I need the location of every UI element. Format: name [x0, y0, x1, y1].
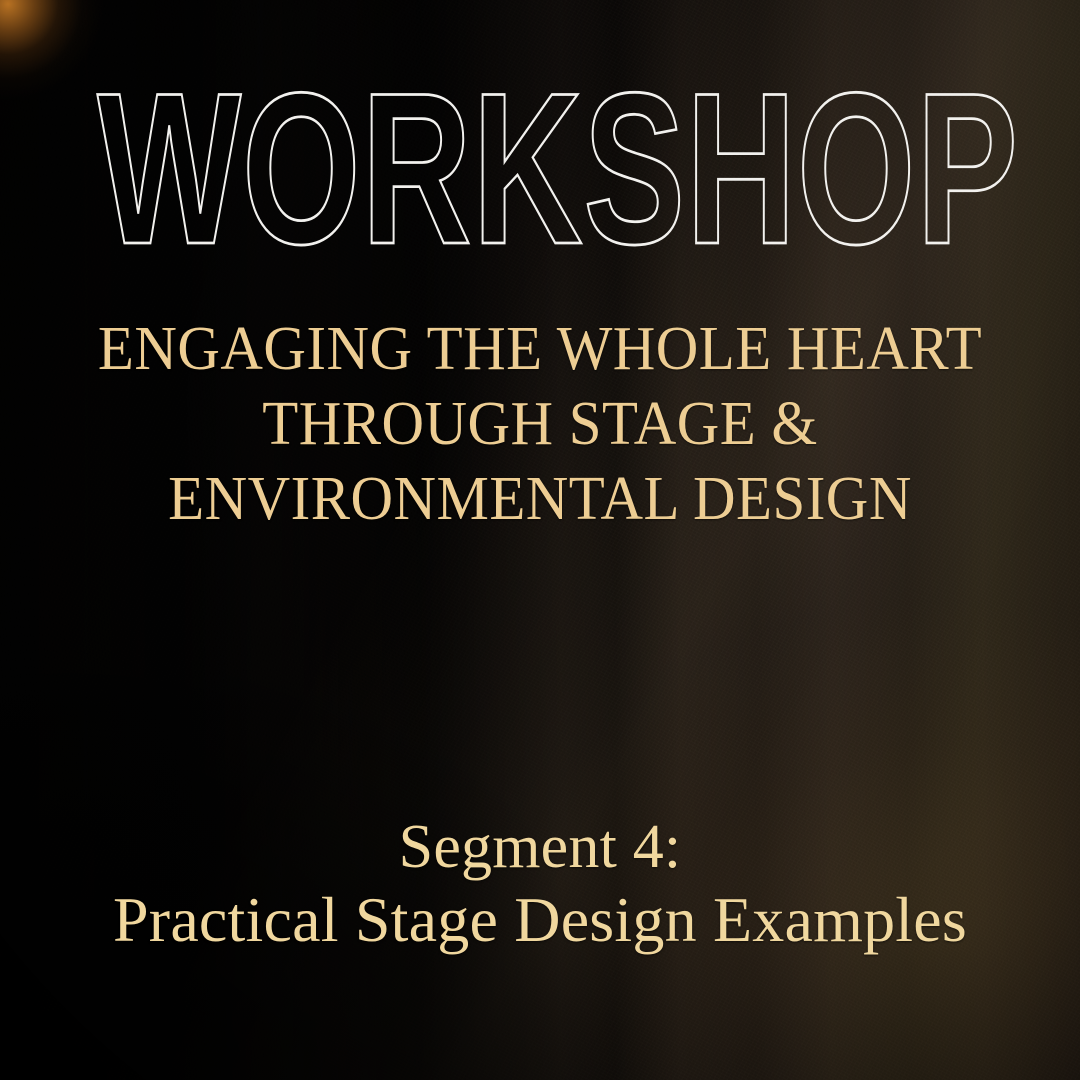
slide-content: WORKSHOP ENGAGING THE WHOLE HEART THROUG… — [0, 0, 1080, 1080]
headline-line-1: ENGAGING THE WHOLE HEART — [27, 312, 1053, 387]
segment-title: Practical Stage Design Examples — [0, 882, 1080, 958]
headline-line-2: THROUGH STAGE & — [27, 387, 1053, 462]
workshop-title-slide: WORKSHOP ENGAGING THE WHOLE HEART THROUG… — [0, 0, 1080, 1080]
segment-block: Segment 4: Practical Stage Design Exampl… — [0, 812, 1080, 958]
display-title-workshop: WORKSHOP — [97, 62, 983, 278]
headline-block: ENGAGING THE WHOLE HEART THROUGH STAGE &… — [27, 312, 1053, 537]
headline-line-3: ENVIRONMENTAL DESIGN — [27, 462, 1053, 537]
segment-label: Segment 4: — [0, 812, 1080, 882]
